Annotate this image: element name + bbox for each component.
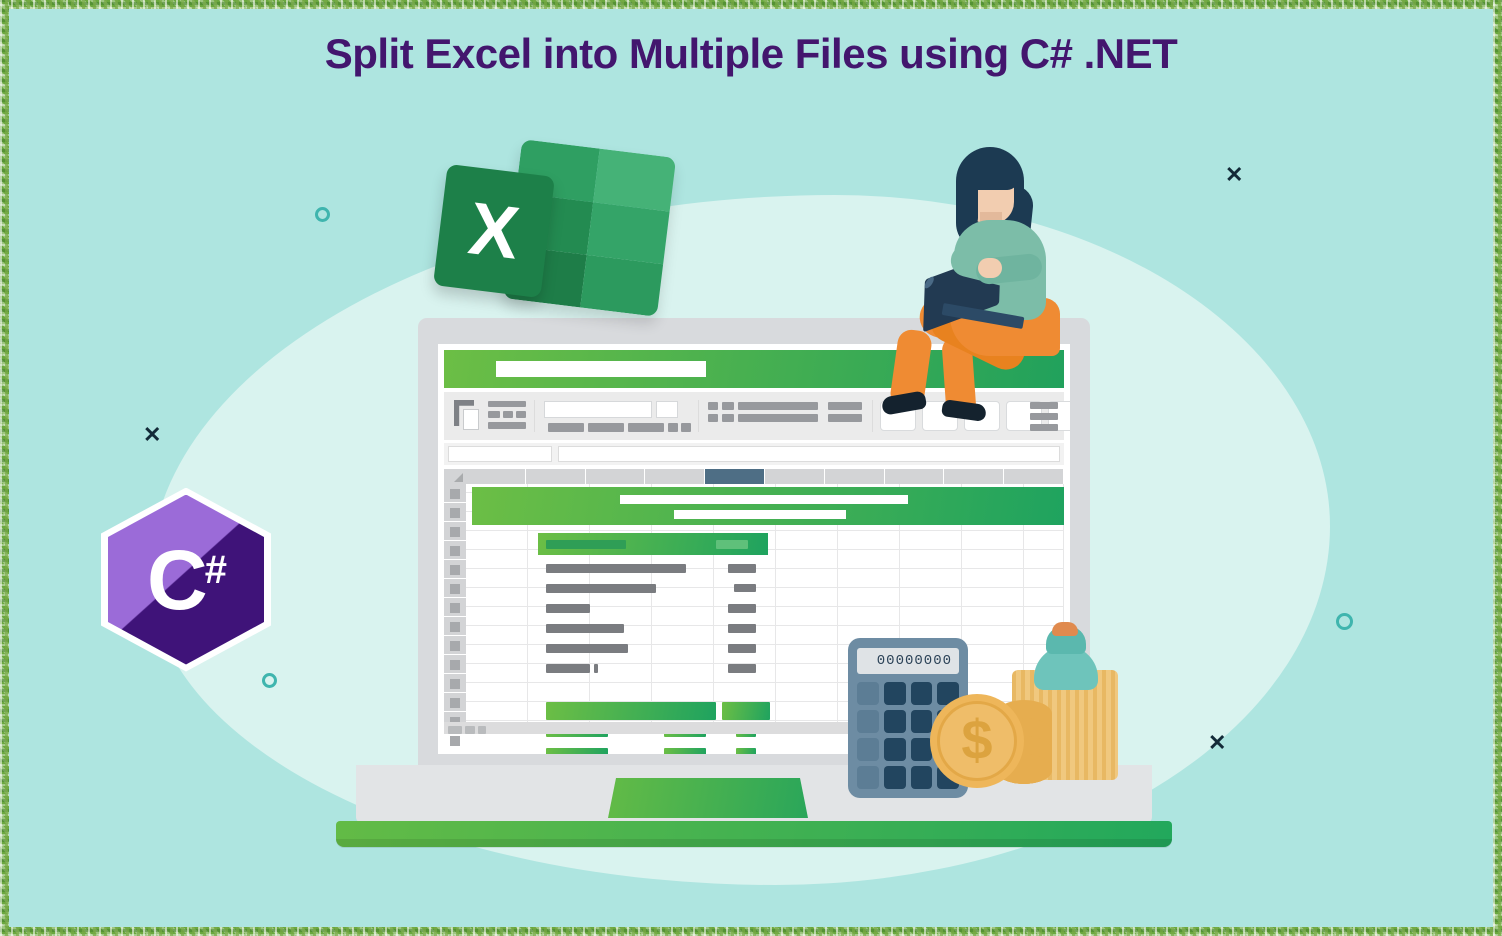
row-header-11[interactable] [444,674,466,693]
align-bottom-bar[interactable] [708,414,718,422]
calculator-display-value: 00000000 [877,654,952,668]
sheet-title-band [472,487,1064,525]
paste-icon[interactable] [454,400,480,430]
column-header-f[interactable] [765,469,825,484]
excel-logo: X [440,148,672,323]
column-header-a[interactable] [466,469,526,484]
data-text-r5c3 [728,644,756,653]
cut-bar[interactable] [488,401,526,407]
align-middle-bar[interactable] [722,414,734,422]
wrap-text-bar[interactable] [738,402,818,410]
data-text-r4c3 [728,624,756,633]
select-all-corner[interactable] [444,469,466,484]
money-bag-tie-knot [1052,622,1078,636]
decor-circle-right [1336,613,1353,630]
total-row-2-c2 [664,748,706,754]
autosum-bar[interactable] [1030,402,1058,409]
calculator-key[interactable] [911,682,933,705]
laptop-front-shadow [336,839,1172,848]
page-title: Split Excel into Multiple Files using C#… [0,30,1502,78]
font-size-field[interactable] [656,401,678,418]
woman-hand [978,258,1002,278]
total-row-2-c1 [546,748,608,754]
row-header-8[interactable] [444,617,466,636]
font-name-field[interactable] [544,401,652,418]
border-swatch[interactable] [668,423,678,432]
calculator-key[interactable] [884,710,906,733]
frame-top-edge [0,0,1502,9]
excel-logo-cell-6 [580,255,664,317]
decor-x-left: ✕ [143,424,161,446]
ribbon-separator-3 [872,400,873,432]
frame-left-edge [0,0,9,936]
calculator-key[interactable] [884,682,906,705]
column-header-b[interactable] [526,469,586,484]
excel-formula-bar [444,443,1064,465]
copy-bar[interactable] [488,411,500,418]
totals-band-left [546,702,716,720]
column-header-h[interactable] [885,469,945,484]
laptop-trackpad[interactable] [608,778,808,818]
number-format-bar-2[interactable] [828,414,862,422]
calculator-key[interactable] [857,766,879,789]
calculator-key[interactable] [884,738,906,761]
data-text-r6c3 [728,664,756,673]
csharp-logo-text: C# [147,538,225,622]
ribbon-separator-2 [698,400,699,432]
column-header-c[interactable] [586,469,646,484]
data-text-r3c1 [546,604,590,613]
calculator-key[interactable] [911,766,933,789]
data-text-r2c1 [546,584,656,593]
row-header-4[interactable] [444,541,466,560]
data-text-r1c3 [728,564,756,573]
calculator-display: 00000000 [857,648,959,674]
data-text-r4c1 [546,624,624,633]
merge-cells-bar[interactable] [738,414,818,422]
excel-logo-cell-2 [593,149,676,212]
column-header-d[interactable] [645,469,705,484]
copy-bar-3[interactable] [516,411,526,418]
column-header-i[interactable] [944,469,1004,484]
data-text-r6c1b [594,664,598,673]
excel-search-box[interactable] [496,361,706,377]
total-row-2-c3 [736,748,756,754]
copy-bar-2[interactable] [503,411,513,418]
subheader-label-1 [546,540,626,549]
woman-laptop-logo [925,275,934,291]
calculator-key[interactable] [911,710,933,733]
align-left-bar[interactable] [708,402,718,410]
calculator-key[interactable] [884,766,906,789]
excel-logo-cell-4 [587,202,671,264]
illustration-canvas: ✕ ✕ ✕ Split Excel into Multiple Files us… [0,0,1502,936]
dollar-coin: $ [930,694,1024,788]
data-text-r5c1 [546,644,628,653]
row-header-column [444,484,466,722]
row-header-5[interactable] [444,560,466,579]
decor-circle-bottom-left [262,673,277,688]
find-select-bar[interactable] [1030,424,1058,431]
row-header-1[interactable] [444,484,466,503]
csharp-logo: C# [100,492,272,667]
excel-logo-x-tile: X [433,164,555,298]
calculator-key[interactable] [857,682,879,705]
bold-bar[interactable] [548,423,584,432]
data-text-r2c3 [734,584,756,592]
data-text-r3c3 [728,604,756,613]
row-header-7[interactable] [444,598,466,617]
excel-logo-x-letter: X [465,191,523,270]
ribbon-separator-1 [534,400,535,432]
row-header-3[interactable] [444,522,466,541]
calculator-key[interactable] [857,710,879,733]
row-header-12[interactable] [444,693,466,712]
sort-filter-bar[interactable] [1030,413,1058,420]
sheet-cells-area[interactable] [466,484,1064,722]
formula-input[interactable] [558,446,1060,462]
format-painter-bar[interactable] [488,422,526,429]
subheader-label-2 [716,540,748,549]
column-header-g[interactable] [825,469,885,484]
row-header-10[interactable] [444,655,466,674]
data-text-r1c1 [546,564,686,573]
coin-dollar-symbol: $ [961,712,992,768]
decor-x-top-right: ✕ [1225,164,1243,186]
calculator-key[interactable] [911,738,933,761]
row-header-6[interactable] [444,579,466,598]
fill-swatch[interactable] [681,423,691,432]
frame-bottom-edge [0,927,1502,936]
add-sheet-button[interactable] [478,726,486,734]
row-header-2[interactable] [444,503,466,522]
row-header-9[interactable] [444,636,466,655]
sheet-title-text-1 [620,495,908,504]
column-header-j[interactable] [1004,469,1064,484]
align-center-bar[interactable] [722,402,734,410]
sheet-tab-2[interactable] [465,726,475,734]
woman-with-laptop-illustration [880,140,1100,390]
column-header-e-selected[interactable] [705,469,765,484]
number-format-bar-1[interactable] [828,402,862,410]
calculator-key[interactable] [857,738,879,761]
underline-bar[interactable] [628,423,664,432]
name-box[interactable] [448,446,552,462]
sheet-title-text-2 [674,510,846,519]
totals-band-right [722,702,770,720]
woman-hair-side [958,166,978,228]
frame-right-edge [1493,0,1502,936]
decor-x-bottom-right: ✕ [1208,732,1226,754]
italic-bar[interactable] [588,423,624,432]
sheet-tab-1[interactable] [448,726,462,734]
decor-circle-top-left [315,207,330,222]
csharp-hash: # [205,548,225,592]
column-header-row [444,469,1064,484]
data-text-r6c1 [546,664,590,673]
